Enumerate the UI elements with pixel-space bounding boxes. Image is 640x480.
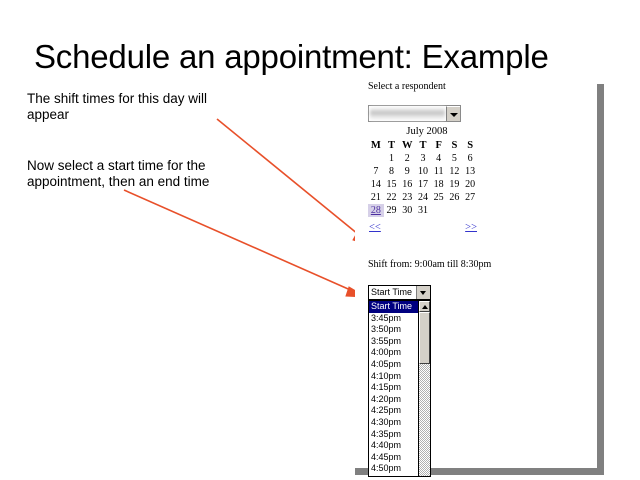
calendar-day[interactable]: 18 [431, 178, 447, 191]
start-time-option[interactable]: 4:15pm [369, 382, 418, 394]
calendar-day[interactable]: 17 [415, 178, 431, 191]
calendar-day[interactable]: 31 [415, 204, 431, 217]
calendar-weekday: S [447, 139, 463, 152]
panel-shadow-right [597, 84, 604, 468]
annotation-select-start-time: Now select a start time for the appointm… [27, 158, 249, 190]
start-time-option[interactable]: 4:20pm [369, 394, 418, 406]
calendar-next-month-link[interactable]: >> [465, 222, 477, 233]
start-time-select[interactable]: Start Time [368, 285, 431, 300]
start-time-option[interactable]: 4:30pm [369, 417, 418, 429]
calendar-day[interactable]: 21 [368, 191, 384, 204]
calendar-day[interactable]: 9 [399, 165, 415, 178]
start-time-option[interactable]: 4:40pm [369, 440, 418, 452]
calendar-weekday: W [399, 139, 415, 152]
calendar-day[interactable]: 2 [399, 152, 415, 165]
start-time-option[interactable]: Start Time [369, 301, 418, 313]
calendar-day[interactable]: 25 [431, 191, 447, 204]
annotation-arrow-2 [124, 190, 366, 297]
scroll-up-arrow-icon[interactable] [419, 301, 430, 312]
calendar-day [431, 204, 447, 217]
calendar-week-row: 28 29 30 31 [368, 204, 478, 217]
calendar-day [368, 152, 384, 165]
start-time-option[interactable]: 4:50pm [369, 463, 418, 475]
start-time-option[interactable]: 3:45pm [369, 313, 418, 325]
start-time-option[interactable]: 4:45pm [369, 452, 418, 464]
chevron-down-icon[interactable] [446, 106, 460, 121]
calendar-day [447, 204, 463, 217]
calendar-day[interactable]: 24 [415, 191, 431, 204]
annotation-shift-times: The shift times for this day will appear [27, 91, 242, 123]
calendar-day [462, 204, 478, 217]
calendar-weekday: T [415, 139, 431, 152]
calendar-day[interactable]: 19 [447, 178, 463, 191]
slide-canvas: Schedule an appointment: Example The shi… [0, 0, 640, 480]
calendar-week-row: 1 2 3 4 5 6 [368, 152, 478, 165]
calendar-day[interactable]: 11 [431, 165, 447, 178]
start-time-option[interactable]: 3:50pm [369, 324, 418, 336]
calendar-table: M T W T F S S 1 2 3 4 [368, 139, 478, 217]
scrollbar-track[interactable] [419, 364, 430, 476]
calendar-day[interactable]: 22 [384, 191, 400, 204]
calendar-day[interactable]: 26 [447, 191, 463, 204]
respondent-select[interactable] [368, 105, 461, 122]
calendar-day[interactable]: 7 [368, 165, 384, 178]
calendar-day[interactable]: 8 [384, 165, 400, 178]
calendar-day[interactable]: 23 [399, 191, 415, 204]
calendar-day[interactable]: 27 [462, 191, 478, 204]
calendar-day[interactable]: 29 [384, 204, 400, 217]
calendar-day[interactable]: 3 [415, 152, 431, 165]
start-time-option[interactable]: 4:05pm [369, 359, 418, 371]
calendar-day[interactable]: 20 [462, 178, 478, 191]
start-time-option[interactable]: 3:55pm [369, 336, 418, 348]
calendar-week-row: 7 8 9 10 11 12 13 [368, 165, 478, 178]
calendar-weekday-header-row: M T W T F S S [368, 139, 478, 152]
start-time-option[interactable]: 4:00pm [369, 347, 418, 359]
calendar-prev-month-link[interactable]: << [369, 222, 381, 233]
calendar-day[interactable]: 14 [368, 178, 384, 191]
calendar-weekday: M [368, 139, 384, 152]
calendar-weekday: S [462, 139, 478, 152]
respondent-selected-value [370, 107, 445, 120]
appointment-screenshot-panel: Select a respondent July 2008 M T W T F … [355, 78, 597, 468]
page-title: Schedule an appointment: Example [34, 38, 614, 76]
dropdown-scrollbar[interactable] [418, 301, 430, 476]
calendar-weekday: T [384, 139, 400, 152]
calendar-day[interactable]: 30 [399, 204, 415, 217]
calendar-day[interactable]: 12 [447, 165, 463, 178]
calendar-day-selected[interactable]: 28 [368, 204, 384, 217]
calendar-day[interactable]: 10 [415, 165, 431, 178]
calendar-month-label: July 2008 [368, 126, 478, 137]
start-time-selected-value: Start Time [369, 286, 416, 299]
respondent-label: Select a respondent [368, 81, 446, 92]
calendar-nav: << >> [368, 222, 478, 236]
calendar-day[interactable]: 13 [462, 165, 478, 178]
chevron-down-icon[interactable] [416, 286, 430, 299]
start-time-option[interactable]: 4:25pm [369, 405, 418, 417]
calendar-weekday: F [431, 139, 447, 152]
calendar-day[interactable]: 5 [447, 152, 463, 165]
calendar-day[interactable]: 1 [384, 152, 400, 165]
calendar-week-row: 14 15 16 17 18 19 20 [368, 178, 478, 191]
start-time-option[interactable]: 4:55pm [369, 475, 418, 476]
calendar-day[interactable]: 4 [431, 152, 447, 165]
calendar-day[interactable]: 6 [462, 152, 478, 165]
calendar-widget: July 2008 M T W T F S S [368, 126, 478, 236]
start-time-option-container: Start Time 3:45pm 3:50pm 3:55pm 4:00pm 4… [369, 301, 418, 476]
calendar-day[interactable]: 15 [384, 178, 400, 191]
calendar-day[interactable]: 16 [399, 178, 415, 191]
start-time-dropdown-list[interactable]: Start Time 3:45pm 3:50pm 3:55pm 4:00pm 4… [368, 300, 431, 477]
scrollbar-thumb[interactable] [419, 312, 430, 364]
start-time-option[interactable]: 4:35pm [369, 429, 418, 441]
start-time-option[interactable]: 4:10pm [369, 371, 418, 383]
shift-hours-text: Shift from: 9:00am till 8:30pm [368, 259, 491, 270]
calendar-week-row: 21 22 23 24 25 26 27 [368, 191, 478, 204]
